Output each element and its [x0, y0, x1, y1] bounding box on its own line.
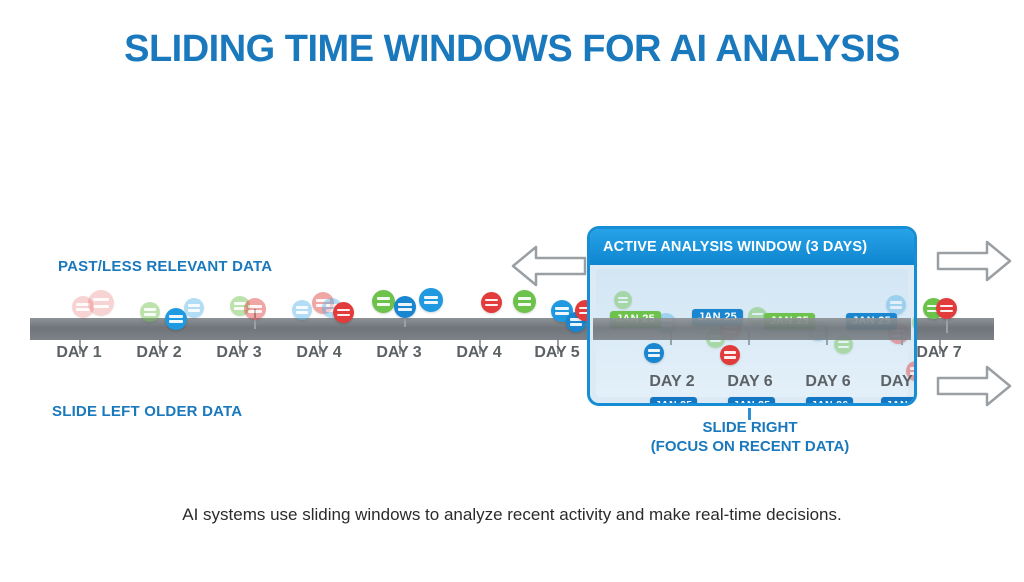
marker-glyph	[398, 308, 411, 311]
window-date-badge: JAN 25	[650, 397, 697, 406]
marker-glyph	[296, 306, 308, 308]
marker-glyph	[838, 341, 849, 343]
window-day-label: DAY 6	[804, 373, 852, 391]
timeline-day-label: DAY 4	[296, 344, 341, 362]
active-analysis-window[interactable]: ACTIVE ANALYSIS WINDOW (3 DAYS) JAN 25JA…	[587, 226, 917, 406]
infographic-canvas: SLIDING TIME WINDOWS FOR AI ANALYSIS PAS…	[0, 0, 1024, 582]
marker-glyph	[93, 298, 109, 301]
event-marker-icon	[886, 295, 906, 315]
event-marker-icon	[419, 288, 443, 312]
window-date-badge: JAN 25	[728, 397, 775, 406]
marker-glyph	[169, 315, 182, 318]
active-window-title: ACTIVE ANALYSIS WINDOW (3 DAYS)	[590, 229, 914, 265]
timeline-bar-window-segment	[593, 318, 911, 340]
marker-glyph	[570, 323, 582, 325]
event-marker-icon	[292, 300, 312, 320]
marker-glyph	[144, 313, 156, 315]
marker-glyph	[424, 301, 438, 304]
marker-glyph	[555, 307, 568, 310]
event-marker-icon	[936, 298, 957, 319]
event-marker-icon	[184, 298, 204, 318]
marker-glyph	[485, 304, 498, 307]
timeline-day-label: DAY 5	[534, 344, 579, 362]
arrow-right-top-icon[interactable]	[935, 238, 1013, 284]
window-date-badge: JAN 27	[881, 397, 917, 406]
marker-glyph	[724, 356, 736, 358]
marker-glyph	[890, 306, 902, 308]
marker-glyph	[518, 297, 532, 300]
marker-glyph	[188, 304, 200, 306]
marker-glyph	[76, 308, 89, 311]
marker-glyph	[337, 309, 350, 312]
marker-glyph	[485, 299, 498, 302]
event-marker-icon	[513, 290, 536, 313]
marker-glyph	[518, 303, 532, 306]
marker-glyph	[618, 301, 629, 303]
marker-glyph	[724, 351, 736, 353]
window-day-label: DAY 2	[648, 373, 696, 391]
marker-glyph	[188, 309, 200, 311]
timeline-day-label: DAY 7	[916, 344, 961, 362]
marker-glyph	[940, 305, 953, 308]
event-marker-icon	[394, 296, 416, 318]
label-slide-right-line1: SLIDE RIGHT	[600, 418, 900, 437]
timeline-day-label: DAY 3	[376, 344, 421, 362]
event-marker-icon	[614, 291, 632, 309]
marker-glyph	[940, 310, 953, 313]
label-slide-left: SLIDE LEFT OLDER DATA	[52, 403, 242, 420]
event-marker-icon	[88, 290, 114, 316]
marker-glyph	[337, 314, 350, 317]
marker-glyph	[910, 367, 917, 369]
event-marker-icon	[244, 298, 266, 320]
event-marker-icon	[481, 292, 502, 313]
marker-glyph	[248, 305, 261, 308]
marker-glyph	[752, 313, 763, 315]
marker-glyph	[377, 297, 391, 300]
label-slide-right-line2: (FOCUS ON RECENT DATA)	[600, 437, 900, 456]
arrow-left-icon[interactable]	[510, 243, 588, 289]
marker-glyph	[169, 320, 182, 323]
window-day-label: DAY 7	[879, 373, 917, 391]
marker-glyph	[618, 297, 629, 299]
event-marker-icon	[372, 290, 395, 313]
marker-glyph	[838, 346, 849, 348]
marker-glyph	[916, 319, 917, 321]
event-marker-icon	[644, 343, 664, 363]
timeline-day-label: DAY 3	[216, 344, 261, 362]
marker-glyph	[648, 354, 660, 356]
window-date-badge: JAN 26	[806, 397, 853, 406]
marker-glyph	[890, 301, 902, 303]
marker-glyph	[555, 312, 568, 315]
marker-glyph	[377, 303, 391, 306]
marker-glyph	[424, 296, 438, 299]
marker-glyph	[144, 308, 156, 310]
timeline-day-label: DAY 2	[136, 344, 181, 362]
page-title: SLIDING TIME WINDOWS FOR AI ANALYSIS	[0, 28, 1024, 71]
marker-glyph	[916, 324, 917, 326]
label-past-data: PAST/LESS RELEVANT DATA	[58, 258, 272, 275]
timeline-day-label: DAY 1	[56, 344, 101, 362]
marker-glyph	[248, 310, 261, 313]
event-marker-icon	[333, 302, 354, 323]
marker-glyph	[296, 311, 308, 313]
marker-glyph	[93, 305, 109, 308]
event-marker-icon	[140, 302, 160, 322]
marker-glyph	[398, 303, 411, 306]
event-marker-icon	[720, 345, 740, 365]
label-slide-right: SLIDE RIGHT (FOCUS ON RECENT DATA)	[600, 418, 900, 456]
arrow-right-bottom-icon[interactable]	[935, 363, 1013, 409]
footer-caption: AI systems use sliding windows to analyz…	[0, 505, 1024, 525]
window-day-label: DAY 6	[726, 373, 774, 391]
marker-glyph	[648, 349, 660, 351]
event-marker-icon	[912, 313, 917, 332]
timeline-day-label: DAY 4	[456, 344, 501, 362]
